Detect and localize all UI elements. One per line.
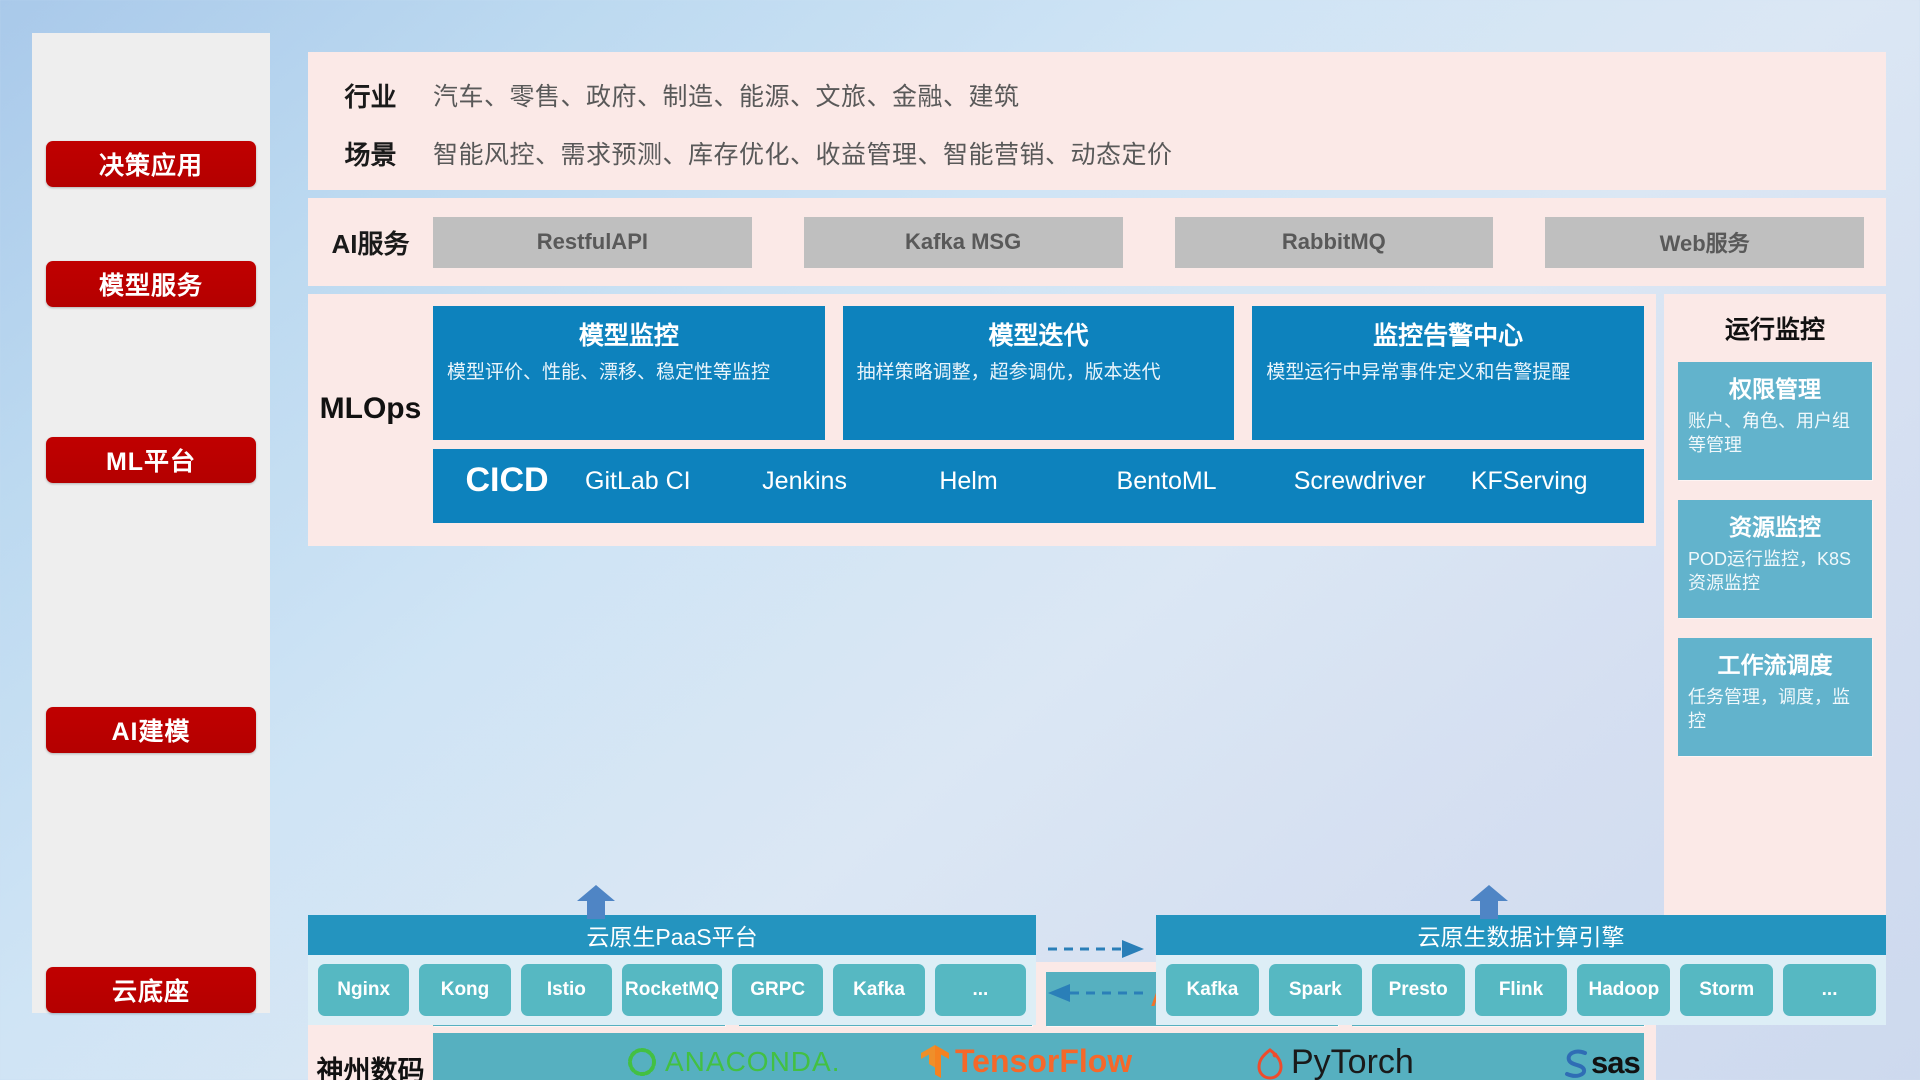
up-arrow-icon-paas xyxy=(573,885,619,919)
cicd-item-screwdriver[interactable]: Screwdriver xyxy=(1290,449,1467,497)
mlops-card-model-iteration[interactable]: 模型迭代 抽样策略调整，超参调优，版本迭代 xyxy=(843,306,1235,440)
ai-service-band: AI服务 RestfulAPI Kafka MSG RabbitMQ Web服务 xyxy=(308,198,1886,286)
compute-chip-kafka[interactable]: Kafka xyxy=(1166,964,1259,1016)
mlops-content: 模型监控 模型评价、性能、漂移、稳定性等监控 模型迭代 抽样策略调整，超参调优，… xyxy=(433,294,1656,523)
card-title: 工作流调度 xyxy=(1688,646,1862,680)
mlops-card-list: 模型监控 模型评价、性能、漂移、稳定性等监控 模型迭代 抽样策略调整，超参调优，… xyxy=(433,306,1644,440)
card-desc: 账户、角色、用户组等管理 xyxy=(1688,410,1862,458)
cicd-item-bentoml[interactable]: BentoML xyxy=(1113,449,1290,497)
paas-chip-istio[interactable]: Istio xyxy=(521,964,612,1016)
paas-chip-nginx[interactable]: Nginx xyxy=(318,964,409,1016)
card-title: 监控告警中心 xyxy=(1266,316,1630,352)
industry-key: 行业 xyxy=(308,77,433,114)
card-title: 模型监控 xyxy=(447,316,811,352)
data-compute-engine-title: 云原生数据计算引擎 xyxy=(1156,915,1886,955)
compute-chip-spark[interactable]: Spark xyxy=(1269,964,1362,1016)
compute-chip-more[interactable]: ... xyxy=(1783,964,1876,1016)
pytorch-icon xyxy=(1256,1046,1284,1080)
cicd-strip: CICD GitLab CI Jenkins Helm BentoML Scre… xyxy=(433,449,1644,523)
mlops-card-alert-center[interactable]: 监控告警中心 模型运行中异常事件定义和告警提醒 xyxy=(1252,306,1644,440)
compute-chip-flink[interactable]: Flink xyxy=(1475,964,1568,1016)
compute-chip-hadoop[interactable]: Hadoop xyxy=(1577,964,1670,1016)
rail-item-ai-modeling[interactable]: AI建模 xyxy=(46,707,256,753)
compute-chip-list: Kafka Spark Presto Flink Hadoop Storm ..… xyxy=(1156,955,1886,1025)
mlops-card-model-monitoring[interactable]: 模型监控 模型评价、性能、漂移、稳定性等监控 xyxy=(433,306,825,440)
rail-item-label: AI建模 xyxy=(111,712,190,748)
connector-arrow-left-icon xyxy=(1046,982,1146,1004)
decision-apps-band: 行业 汽车、零售、政府、制造、能源、文旅、金融、建筑 场景 智能风控、需求预测、… xyxy=(308,52,1886,190)
rail-item-label: 模型服务 xyxy=(99,266,203,302)
ai-service-chip-list: RestfulAPI Kafka MSG RabbitMQ Web服务 xyxy=(433,217,1886,268)
rail-item-label: 决策应用 xyxy=(99,146,203,182)
mlops-band: MLOps 模型监控 模型评价、性能、漂移、稳定性等监控 模型迭代 抽样策略调整… xyxy=(308,294,1656,546)
rail-item-model-service[interactable]: 模型服务 xyxy=(46,261,256,307)
service-chip-restfulapi[interactable]: RestfulAPI xyxy=(433,217,752,268)
monitor-card-permission[interactable]: 权限管理 账户、角色、用户组等管理 xyxy=(1678,362,1872,480)
rail-item-cloud-base[interactable]: 云底座 xyxy=(46,967,256,1013)
service-chip-rabbitmq[interactable]: RabbitMQ xyxy=(1175,217,1494,268)
cicd-item-list: GitLab CI Jenkins Helm BentoML Screwdriv… xyxy=(581,449,1644,497)
tensorflow-logo: TensorFlow xyxy=(919,1043,1132,1080)
cicd-title: CICD xyxy=(433,449,581,500)
rail-item-decision-apps[interactable]: 决策应用 xyxy=(46,141,256,187)
paas-platform-title: 云原生PaaS平台 xyxy=(308,915,1036,955)
paas-chip-rocketmq[interactable]: RocketMQ xyxy=(622,964,722,1016)
stack-layer-rail: 决策应用 模型服务 ML平台 AI建模 云底座 xyxy=(32,33,270,1013)
anaconda-logo: ANACONDA. xyxy=(625,1045,840,1079)
sas-icon xyxy=(1561,1047,1591,1079)
anaconda-icon xyxy=(625,1045,659,1079)
runtime-monitor-band: 运行监控 权限管理 账户、角色、用户组等管理 资源监控 POD运行监控，K8S资… xyxy=(1664,294,1886,954)
tensorflow-wordmark: TensorFlow xyxy=(955,1043,1132,1080)
monitor-card-workflow[interactable]: 工作流调度 任务管理，调度，监控 xyxy=(1678,638,1872,756)
paas-chip-kafka[interactable]: Kafka xyxy=(833,964,924,1016)
data-compute-engine-block: 云原生数据计算引擎 Kafka Spark Presto Flink Hadoo… xyxy=(1156,915,1886,1025)
rail-item-label: 云底座 xyxy=(112,972,190,1008)
ml-platform-row: MLOps 模型监控 模型评价、性能、漂移、稳定性等监控 模型迭代 抽样策略调整… xyxy=(308,294,1886,954)
compute-chip-presto[interactable]: Presto xyxy=(1372,964,1465,1016)
ml-lab-label-line1: 神州数码 xyxy=(308,1054,433,1080)
industry-value: 汽车、零售、政府、制造、能源、文旅、金融、建筑 xyxy=(433,77,1020,113)
scenario-row: 场景 智能风控、需求预测、库存优化、收益管理、智能营销、动态定价 xyxy=(308,124,1886,182)
paas-chip-more[interactable]: ... xyxy=(935,964,1026,1016)
paas-chip-kong[interactable]: Kong xyxy=(419,964,510,1016)
ai-service-label: AI服务 xyxy=(308,224,433,261)
cloud-base-section: 云原生PaaS平台 Nginx Kong Istio RocketMQ GRPC… xyxy=(308,885,1886,1045)
rail-item-ml-platform[interactable]: ML平台 xyxy=(46,437,256,483)
paas-chip-grpc[interactable]: GRPC xyxy=(732,964,823,1016)
cicd-item-helm[interactable]: Helm xyxy=(935,449,1112,497)
card-title: 资源监控 xyxy=(1688,508,1862,542)
tensorflow-icon xyxy=(919,1044,951,1080)
compute-chip-storm[interactable]: Storm xyxy=(1680,964,1773,1016)
service-chip-kafka-msg[interactable]: Kafka MSG xyxy=(804,217,1123,268)
card-desc: 模型评价、性能、漂移、稳定性等监控 xyxy=(447,360,811,385)
card-title: 模型迭代 xyxy=(857,316,1221,352)
cicd-item-gitlab-ci[interactable]: GitLab CI xyxy=(581,449,758,497)
cicd-item-kfserving[interactable]: KFServing xyxy=(1467,449,1644,497)
card-desc: 任务管理，调度，监控 xyxy=(1688,686,1862,734)
cicd-item-jenkins[interactable]: Jenkins xyxy=(758,449,935,497)
card-desc: 抽样策略调整，超参调优，版本迭代 xyxy=(857,360,1221,385)
mlops-label: MLOps xyxy=(308,294,433,426)
paas-chip-list: Nginx Kong Istio RocketMQ GRPC Kafka ... xyxy=(308,955,1036,1025)
pytorch-wordmark: PyTorch xyxy=(1291,1043,1414,1080)
anaconda-wordmark: ANACONDA. xyxy=(665,1046,840,1078)
pytorch-logo: PyTorch xyxy=(1256,1043,1414,1080)
rail-item-label: ML平台 xyxy=(106,442,196,478)
industry-row: 行业 汽车、零售、政府、制造、能源、文旅、金融、建筑 xyxy=(308,66,1886,124)
scenario-key: 场景 xyxy=(308,135,433,172)
paas-platform-block: 云原生PaaS平台 Nginx Kong Istio RocketMQ GRPC… xyxy=(308,915,1036,1025)
sas-logo: sas xyxy=(1561,1045,1640,1080)
scenario-value: 智能风控、需求预测、库存优化、收益管理、智能营销、动态定价 xyxy=(433,135,1173,171)
card-title: 权限管理 xyxy=(1688,370,1862,404)
connector-arrow-right-icon xyxy=(1046,938,1146,960)
sas-wordmark: sas xyxy=(1591,1045,1640,1080)
runtime-monitor-title: 运行监控 xyxy=(1678,310,1872,346)
up-arrow-icon-compute xyxy=(1466,885,1512,919)
card-desc: 模型运行中异常事件定义和告警提醒 xyxy=(1266,360,1630,385)
monitor-card-resource[interactable]: 资源监控 POD运行监控，K8S资源监控 xyxy=(1678,500,1872,618)
service-chip-web-service[interactable]: Web服务 xyxy=(1545,217,1864,268)
card-desc: POD运行监控，K8S资源监控 xyxy=(1688,548,1862,596)
